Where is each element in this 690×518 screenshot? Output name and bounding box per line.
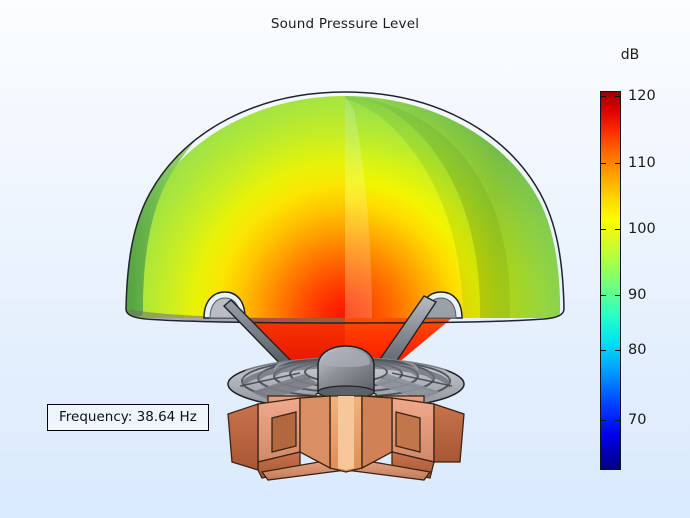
colorbar-tick-label: 90 [628, 287, 646, 303]
frequency-annotation: Frequency: 38.64 Hz [47, 404, 209, 431]
colorbar-tick [615, 96, 621, 97]
colorbar-unit-label: dB [600, 47, 660, 63]
colorbar-gradient [600, 91, 621, 470]
frequency-label: Frequency: 38.64 Hz [59, 409, 197, 425]
colorbar-tick-label: 80 [628, 342, 646, 358]
colorbar-tick [615, 229, 621, 230]
magnet-assembly [228, 396, 464, 480]
colorbar-tick-label: 120 [628, 88, 656, 104]
colorbar-tick [600, 420, 606, 421]
colorbar-tick [615, 295, 621, 296]
colorbar-tick-label: 70 [628, 412, 646, 428]
3d-viewport[interactable] [0, 0, 690, 518]
colorbar-tick [600, 295, 606, 296]
colorbar-tick [600, 96, 606, 97]
colorbar-tick [615, 420, 621, 421]
acoustic-hemisphere-cut-plane [126, 96, 345, 323]
acoustic-hemisphere-exterior [345, 96, 560, 320]
colorbar-tick [615, 350, 621, 351]
colorbar-tick-label: 100 [628, 221, 656, 237]
colorbar-tick [615, 163, 621, 164]
dust-cap [318, 346, 374, 398]
colorbar-tick [600, 229, 606, 230]
colorbar-tick [600, 163, 606, 164]
plot-canvas: Sound Pressure Level [0, 0, 690, 518]
colorbar-tick-label: 110 [628, 155, 656, 171]
colorbar-tick [600, 350, 606, 351]
colorbar[interactable] [600, 91, 621, 470]
sound-pressure-level-plot [0, 0, 690, 518]
